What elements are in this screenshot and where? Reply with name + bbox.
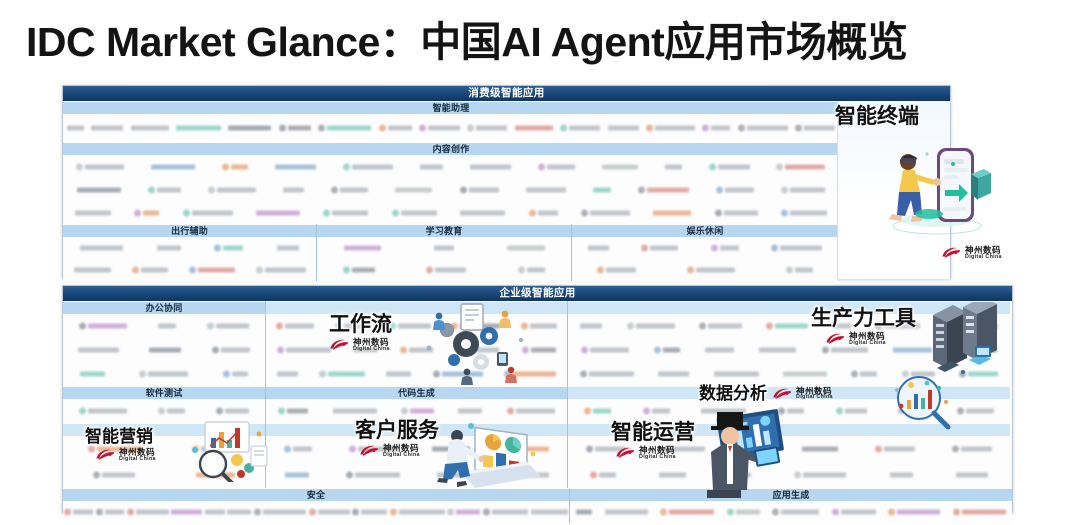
- vendor-logo-mark: [851, 371, 858, 378]
- vendor-logo: [687, 266, 735, 275]
- vendor-logo: [277, 244, 299, 253]
- vendor-logo-mark: [727, 509, 734, 516]
- logo-row-education-1: [317, 237, 571, 259]
- vendor-logo-mark: [319, 371, 326, 378]
- vendor-logo-mark: [597, 267, 604, 274]
- vendor-logo: [460, 185, 499, 194]
- vendor-logo-wordmark: [399, 510, 445, 515]
- vendor-logo: [277, 346, 331, 355]
- vendor-logo: [401, 407, 434, 416]
- vendor-logo-mark: [590, 472, 597, 479]
- vendor-logo-mark: [276, 323, 283, 330]
- vendor-logo-mark: [401, 408, 408, 415]
- vendor-logo-mark: [702, 125, 709, 132]
- vendor-logo: [778, 407, 804, 416]
- vendor-logo: [451, 322, 500, 331]
- vendor-logo-wordmark: [217, 187, 256, 192]
- digital-china-logo: 神州数码 Digital China: [941, 246, 1002, 260]
- vendor-logo: [518, 266, 545, 275]
- vendor-logo: [389, 322, 431, 331]
- vendor-logo: [641, 244, 678, 253]
- vendor-logo-mark: [389, 323, 396, 330]
- vendor-logo-mark: [836, 408, 843, 415]
- section-header-learning-education: 学习教育: [317, 224, 571, 237]
- vendor-logo: [88, 445, 143, 454]
- vendor-logo-wordmark: [531, 348, 556, 353]
- vendor-logo-wordmark: [344, 246, 381, 251]
- vendor-logo: [833, 322, 851, 331]
- vendor-logo: [470, 162, 511, 171]
- vendor-logo-wordmark: [588, 246, 609, 251]
- vendor-logo-mark: [139, 371, 146, 378]
- vendor-logo: [354, 346, 378, 355]
- vendor-logo: [627, 322, 675, 331]
- brand-name-cn: 神州数码: [965, 246, 1002, 255]
- vendor-logo-wordmark: [547, 164, 575, 169]
- vendor-logo-wordmark: [890, 473, 913, 478]
- vendor-logo: [802, 445, 838, 454]
- vendor-logo: [432, 445, 470, 454]
- vendor-logo-mark: [529, 209, 536, 216]
- vendor-logo: [646, 124, 695, 133]
- vendor-logo-wordmark: [148, 372, 188, 377]
- vendor-logo: [576, 508, 592, 517]
- vendor-logo-wordmark: [708, 324, 742, 329]
- vendor-logo-wordmark: [957, 348, 997, 353]
- logo-row-entertainment-1: [572, 237, 838, 259]
- vendor-logo: [284, 445, 312, 454]
- vendor-logo: [531, 508, 568, 517]
- vendor-logo-mark: [419, 125, 426, 132]
- vendor-logo: [151, 162, 195, 171]
- vendor-logo-wordmark: [593, 187, 611, 192]
- vendor-logo-mark: [521, 323, 528, 330]
- vendor-logo-wordmark: [460, 324, 500, 329]
- vendor-logo-wordmark: [470, 164, 511, 169]
- vendor-logo-wordmark: [333, 409, 377, 414]
- brand-name-en: Digital China: [965, 255, 1002, 260]
- vendor-logo-wordmark: [492, 510, 528, 515]
- vendor-logo-wordmark: [88, 409, 127, 414]
- vendor-logo: [505, 471, 549, 480]
- vendor-logo-wordmark: [647, 187, 689, 192]
- vendor-logo: [139, 370, 188, 379]
- vendor-logo: [715, 208, 758, 217]
- vendor-logo-mark: [343, 267, 350, 274]
- logo-row-workflow-1: [266, 314, 567, 338]
- vendor-logo-mark: [771, 245, 778, 252]
- vendor-logo-wordmark: [833, 324, 851, 329]
- vendor-logo-mark: [379, 125, 386, 132]
- vendor-logo-wordmark: [141, 268, 168, 273]
- vendor-logo: [727, 508, 760, 517]
- section-header-entertainment: 娱乐休闲: [572, 224, 838, 237]
- vendor-logo-mark: [953, 509, 960, 516]
- spacer-band-right-mid: [568, 386, 1010, 399]
- vendor-logo-wordmark: [285, 324, 314, 329]
- vendor-logo-mark: [223, 371, 230, 378]
- vendor-logo-wordmark: [590, 210, 630, 215]
- vendor-logo-mark: [483, 509, 490, 516]
- vendor-logo: [93, 471, 135, 480]
- vendor-logo: [283, 185, 304, 194]
- vendor-logo: [643, 407, 670, 416]
- vendor-logo-wordmark: [171, 510, 202, 515]
- vendor-logo: [189, 266, 235, 275]
- vendor-logo-wordmark: [724, 210, 758, 215]
- vendor-logo-wordmark: [231, 164, 248, 169]
- vendor-logo-mark: [277, 347, 284, 354]
- enterprise-applications-panel: 企业级智能应用 办公协同 软件测试 代码生成: [62, 285, 1013, 513]
- vendor-logo-wordmark: [73, 510, 93, 515]
- vendor-logo-wordmark: [538, 210, 558, 215]
- vendor-logo: [420, 162, 443, 171]
- vendor-logo-wordmark: [966, 409, 994, 414]
- vendor-logo: [593, 185, 611, 194]
- vendor-logo-mark: [76, 163, 83, 170]
- market-glance-poster: IDC Market Glance：中国AI Agent应用市场概览 消费级智能…: [0, 0, 1080, 525]
- vendor-logo-mark: [335, 323, 342, 330]
- vendor-logo-mark: [127, 509, 134, 516]
- vendor-logo-mark: [390, 509, 397, 516]
- vendor-logo-wordmark: [442, 372, 483, 377]
- vendor-logo-wordmark: [456, 348, 499, 353]
- vendor-logo-wordmark: [705, 348, 734, 353]
- logo-row-customer-service-2: [266, 462, 567, 488]
- vendor-logo: [91, 124, 123, 133]
- vendor-logo-wordmark: [803, 473, 846, 478]
- vendor-logo: [352, 508, 387, 517]
- vendor-logo: [526, 185, 566, 194]
- vendor-logo-wordmark: [659, 473, 686, 478]
- vendor-logo-wordmark: [476, 126, 507, 131]
- vendor-logo: [127, 508, 169, 517]
- vendor-logo-wordmark: [80, 372, 105, 377]
- vendor-logo: [278, 407, 308, 416]
- vendor-logo: [319, 370, 365, 379]
- vendor-logo-mark: [309, 509, 316, 516]
- vendor-logo-wordmark: [605, 510, 648, 515]
- vendor-logo-mark: [256, 267, 263, 274]
- vendor-logo: [590, 471, 616, 480]
- vendor-logo-wordmark: [227, 510, 251, 515]
- vendor-logo: [343, 162, 393, 171]
- vendor-logo: [183, 208, 233, 217]
- vendor-logo-wordmark: [516, 447, 549, 452]
- vendor-logo-mark: [959, 371, 966, 378]
- vendor-logo-mark: [183, 209, 190, 216]
- vendor-logo: [222, 162, 248, 171]
- vendor-logo-wordmark: [151, 164, 195, 169]
- vendor-logo-mark: [507, 446, 514, 453]
- vendor-logo: [772, 508, 819, 517]
- vendor-logo: [228, 124, 271, 133]
- logo-row-operations-2: [568, 462, 1010, 488]
- vendor-logo-wordmark: [158, 324, 176, 329]
- vendor-logo-wordmark: [256, 210, 300, 215]
- smart-terminal-aside: [837, 101, 950, 279]
- vendor-logo-mark: [392, 209, 399, 216]
- vendor-logo: [952, 445, 992, 454]
- vendor-logo-wordmark: [223, 246, 243, 251]
- vendor-logo-wordmark: [74, 268, 111, 273]
- vendor-logo: [945, 322, 998, 331]
- vendor-logo-mark: [778, 408, 785, 415]
- vendor-logo-mark: [192, 446, 199, 453]
- vendor-logo-wordmark: [736, 510, 760, 515]
- vendor-logo-mark: [716, 186, 723, 193]
- vendor-logo-wordmark: [131, 126, 169, 131]
- section-header-intelligent-assistant: 智能助理: [63, 101, 839, 114]
- column-learning-education: 学习教育: [316, 224, 571, 281]
- vendor-logo-wordmark: [105, 510, 124, 515]
- vendor-logo-wordmark: [67, 126, 84, 131]
- vendor-logo-mark: [875, 323, 882, 330]
- vendor-logo-wordmark: [386, 372, 411, 377]
- vendor-logo-mark: [467, 125, 474, 132]
- vendor-logo: [434, 244, 454, 253]
- vendor-logo-mark: [318, 125, 325, 132]
- vendor-logo-mark: [323, 209, 330, 216]
- vendor-logo-wordmark: [435, 268, 466, 273]
- vendor-logo-mark: [709, 163, 716, 170]
- vendor-logo: [216, 407, 249, 416]
- logo-row-productivity-3: [568, 362, 1010, 386]
- vendor-logo: [701, 407, 746, 416]
- vendor-logo-wordmark: [602, 164, 638, 169]
- vendor-logo: [786, 266, 813, 275]
- vendor-logo-wordmark: [458, 409, 482, 414]
- section-header-travel-assist: 出行辅助: [63, 224, 316, 237]
- vendor-logo: [658, 370, 689, 379]
- vendor-logo: [75, 208, 111, 217]
- vendor-logo-mark: [781, 186, 788, 193]
- spacer-band-left: [63, 423, 265, 436]
- vendor-logo: [832, 508, 876, 517]
- vendor-logo: [597, 266, 636, 275]
- vendor-logo-wordmark: [328, 372, 365, 377]
- vendor-logo: [953, 508, 1006, 517]
- vendor-logo-wordmark: [277, 372, 298, 377]
- vendor-logo-wordmark: [437, 473, 468, 478]
- vendor-logo-mark: [132, 267, 139, 274]
- vendor-logo-wordmark: [658, 372, 689, 377]
- vendor-logo: [212, 346, 250, 355]
- vendor-logo-mark: [518, 267, 525, 274]
- vendor-logo: [890, 471, 913, 480]
- vendor-logo-wordmark: [590, 348, 629, 353]
- vendor-logo-mark: [279, 125, 286, 132]
- vendor-logo-mark: [875, 446, 882, 453]
- vendor-logo-wordmark: [841, 510, 876, 515]
- vendor-logo: [379, 124, 412, 133]
- vendor-logo: [192, 445, 240, 454]
- vendor-logo-wordmark: [787, 409, 804, 414]
- vendor-logo-wordmark: [221, 348, 250, 353]
- vendor-logo-wordmark: [283, 187, 304, 192]
- vendor-logo-wordmark: [176, 126, 221, 131]
- vendor-logo-wordmark: [398, 324, 431, 329]
- vendor-logo: [400, 346, 433, 355]
- vendor-logo: [132, 266, 168, 275]
- vendor-logo-wordmark: [198, 268, 235, 273]
- logo-row-data-analysis: [568, 399, 1010, 423]
- vendor-logo-wordmark: [192, 210, 233, 215]
- vendor-logo-mark: [79, 323, 86, 330]
- vendor-logo: [957, 346, 997, 355]
- vendor-logo-wordmark: [149, 348, 181, 353]
- vendor-logo-wordmark: [505, 473, 549, 478]
- vendor-logo-wordmark: [332, 210, 368, 215]
- vendor-logo: [702, 124, 730, 133]
- enterprise-column-left: 办公协同 软件测试: [63, 301, 265, 488]
- vendor-logo: [343, 266, 375, 275]
- vendor-logo-wordmark: [968, 372, 998, 377]
- vendor-logo-mark: [586, 446, 593, 453]
- vendor-logo-mark: [134, 209, 141, 216]
- vendor-logo-mark: [711, 245, 718, 252]
- vendor-logo: [214, 244, 243, 253]
- vendor-logo: [711, 244, 739, 253]
- vendor-logo-wordmark: [884, 324, 920, 329]
- vendor-logo-wordmark: [893, 348, 932, 353]
- vendor-logo-mark: [507, 408, 514, 415]
- vendor-logo-wordmark: [911, 372, 935, 377]
- vendor-logo-mark: [433, 371, 440, 378]
- vendor-logo-wordmark: [636, 324, 675, 329]
- vendor-logo-wordmark: [527, 268, 545, 273]
- vendor-logo-wordmark: [775, 324, 808, 329]
- vendor-logo: [521, 322, 557, 331]
- vendor-logo-wordmark: [286, 348, 331, 353]
- vendor-logo-mark: [284, 446, 291, 453]
- vendor-logo: [67, 124, 84, 133]
- page-title: IDC Market Glance：中国AI Agent应用市场概览: [26, 18, 1066, 66]
- vendor-logo-mark: [738, 125, 745, 132]
- vendor-logo-wordmark: [80, 246, 123, 251]
- vendor-logo-wordmark: [102, 473, 135, 478]
- vendor-logo-wordmark: [653, 210, 691, 215]
- vendor-logo-wordmark: [576, 510, 592, 515]
- vendor-logo-wordmark: [655, 126, 695, 131]
- vendor-logo: [80, 244, 123, 253]
- vendor-logo: [580, 370, 634, 379]
- logo-row-customer-service-1: [266, 436, 567, 462]
- vendor-logo: [335, 322, 369, 331]
- vendor-logo: [131, 124, 169, 133]
- vendor-logo: [822, 346, 868, 355]
- vendor-logo-wordmark: [513, 372, 556, 377]
- section-header-office-collaboration: 办公协同: [63, 301, 265, 314]
- logo-row-travel-2: [63, 259, 316, 281]
- vendor-logo-mark: [687, 267, 694, 274]
- vendor-logo: [331, 185, 368, 194]
- vendor-logo: [419, 124, 460, 133]
- vendor-logo-wordmark: [720, 246, 739, 251]
- vendor-logo: [653, 208, 691, 217]
- vendor-logo-mark: [349, 446, 356, 453]
- vendor-logo: [346, 471, 400, 480]
- vendor-logo: [851, 370, 877, 379]
- vendor-logo-wordmark: [663, 447, 705, 452]
- vendor-logo: [522, 346, 556, 355]
- enterprise-bottom-bands: 安全 应用生成: [63, 488, 1012, 501]
- section-header-content-creation: 内容创作: [63, 142, 839, 155]
- vendor-logo-mark: [641, 245, 648, 252]
- vendor-logo-mark: [426, 267, 433, 274]
- vendor-logo: [483, 508, 528, 517]
- vendor-logo: [781, 208, 827, 217]
- vendor-logo-wordmark: [781, 510, 819, 515]
- enterprise-column-right: [567, 301, 1010, 488]
- logo-row-workflow-2: [266, 338, 567, 362]
- vendor-logo: [456, 346, 499, 355]
- vendor-logo-wordmark: [595, 447, 626, 452]
- vendor-logo: [705, 346, 734, 355]
- logo-row-entertainment-2: [572, 259, 838, 281]
- vendor-logo-wordmark: [785, 164, 825, 169]
- vendor-logo-wordmark: [884, 447, 915, 452]
- vendor-logo-wordmark: [388, 126, 412, 131]
- vendor-logo-wordmark: [669, 510, 714, 515]
- column-entertainment: 娱乐休闲: [571, 224, 838, 281]
- vendor-logo-wordmark: [711, 126, 730, 131]
- vendor-logo: [80, 370, 105, 379]
- section-header-software-testing: 软件测试: [63, 386, 265, 399]
- vendor-logo: [699, 322, 742, 331]
- vendor-logo-wordmark: [205, 510, 225, 515]
- vendor-logo: [171, 508, 202, 517]
- vendor-logo-wordmark: [293, 447, 312, 452]
- vendor-logo: [959, 370, 998, 379]
- vendor-logo-wordmark: [434, 246, 454, 251]
- vendor-logo-mark: [346, 472, 353, 479]
- vendor-logo-wordmark: [790, 187, 825, 192]
- vendor-logo-mark: [331, 186, 338, 193]
- vendor-logo: [256, 266, 306, 275]
- vendor-logo: [538, 162, 575, 171]
- vendor-logo: [227, 508, 251, 517]
- vendor-logo-wordmark: [352, 268, 375, 273]
- vendor-logo: [323, 208, 368, 217]
- vendor-logo: [437, 471, 468, 480]
- vendor-logo-mark: [627, 323, 634, 330]
- vendor-logo: [256, 208, 300, 217]
- vendor-logo: [580, 322, 602, 331]
- vendor-logo-wordmark: [759, 348, 796, 353]
- vendor-logo-mark: [212, 347, 219, 354]
- vendor-logo-mark: [207, 323, 214, 330]
- vendor-logo-mark: [786, 267, 793, 274]
- vendor-logo-wordmark: [318, 510, 350, 515]
- logo-row-travel-1: [63, 237, 316, 259]
- logo-row-intelligent-assistant: [63, 114, 839, 142]
- vendor-logo-wordmark: [136, 510, 169, 515]
- vendor-logo: [766, 322, 808, 331]
- vendor-logo-mark: [352, 509, 359, 516]
- vendor-logo-wordmark: [196, 473, 235, 478]
- section-header-security: 安全: [63, 488, 569, 501]
- vendor-logo: [78, 346, 119, 355]
- vendor-logo-wordmark: [516, 409, 555, 414]
- vendor-logo: [659, 471, 686, 480]
- vendor-logo: [318, 124, 371, 133]
- vendor-logo: [64, 508, 93, 517]
- vendor-logo-mark: [538, 163, 545, 170]
- vendor-logo-mark: [158, 408, 165, 415]
- vendor-logo-wordmark: [725, 187, 754, 192]
- vendor-logo-wordmark: [225, 409, 249, 414]
